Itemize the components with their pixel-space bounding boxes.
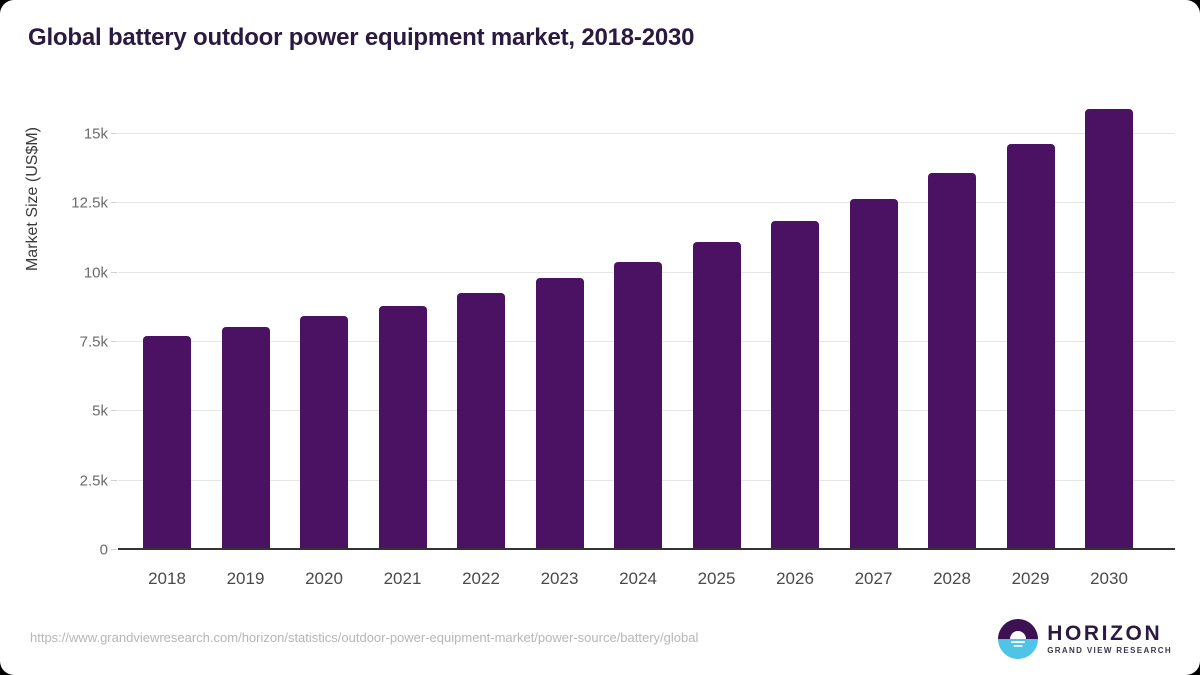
source-url[interactable]: https://www.grandviewresearch.com/horizo… xyxy=(30,630,698,645)
bar[interactable] xyxy=(928,173,976,550)
x-tick-label: 2021 xyxy=(368,569,438,589)
y-tick-label: 7.5k xyxy=(80,334,108,351)
y-tick-mark xyxy=(111,133,117,134)
x-tick-label: 2030 xyxy=(1074,569,1144,589)
bar[interactable] xyxy=(1007,144,1055,550)
y-tick-mark xyxy=(111,549,117,550)
y-tick-label: 12.5k xyxy=(71,195,108,212)
horizon-sun-circle-icon xyxy=(998,619,1038,659)
y-tick-label: 10k xyxy=(84,264,108,281)
plot-area xyxy=(118,100,1175,550)
x-axis-tick-labels: 2018201920202021202220232024202520262027… xyxy=(118,560,1175,590)
y-tick-label: 2.5k xyxy=(80,472,108,489)
bar[interactable] xyxy=(614,262,662,550)
logo-wordmark: HORIZON xyxy=(1047,623,1172,644)
y-tick-mark xyxy=(111,272,117,273)
bar[interactable] xyxy=(536,278,584,550)
bar[interactable] xyxy=(771,221,819,550)
bar[interactable] xyxy=(693,242,741,550)
y-tick-mark xyxy=(111,341,117,342)
gridline xyxy=(118,133,1175,134)
page-title: Global battery outdoor power equipment m… xyxy=(28,24,694,52)
x-tick-label: 2022 xyxy=(446,569,516,589)
y-tick-mark xyxy=(111,480,117,481)
y-tick-label: 5k xyxy=(92,403,108,420)
bar[interactable] xyxy=(222,327,270,550)
bar[interactable] xyxy=(300,316,348,550)
logo-text: HORIZON GRAND VIEW RESEARCH xyxy=(1047,623,1172,655)
x-tick-label: 2019 xyxy=(211,569,281,589)
bar[interactable] xyxy=(457,293,505,550)
horizon-logo: HORIZON GRAND VIEW RESEARCH xyxy=(998,618,1172,660)
x-tick-label: 2023 xyxy=(525,569,595,589)
bar[interactable] xyxy=(143,336,191,550)
x-tick-label: 2026 xyxy=(760,569,830,589)
y-tick-label: 15k xyxy=(84,126,108,143)
x-axis-line xyxy=(118,548,1175,550)
y-tick-mark xyxy=(111,202,117,203)
bar[interactable] xyxy=(379,306,427,550)
x-tick-label: 2027 xyxy=(839,569,909,589)
bar[interactable] xyxy=(1085,109,1133,550)
y-tick-label: 0 xyxy=(100,542,108,559)
x-tick-label: 2018 xyxy=(132,569,202,589)
x-tick-label: 2025 xyxy=(682,569,752,589)
x-tick-label: 2020 xyxy=(289,569,359,589)
x-tick-label: 2024 xyxy=(603,569,673,589)
bar[interactable] xyxy=(850,199,898,550)
chart-card: Global battery outdoor power equipment m… xyxy=(0,0,1200,675)
y-tick-mark xyxy=(111,410,117,411)
logo-tagline: GRAND VIEW RESEARCH xyxy=(1047,647,1172,655)
x-tick-label: 2029 xyxy=(996,569,1066,589)
x-tick-label: 2028 xyxy=(917,569,987,589)
y-axis-tick-labels: 02.5k5k7.5k10k12.5k15k xyxy=(40,100,108,550)
